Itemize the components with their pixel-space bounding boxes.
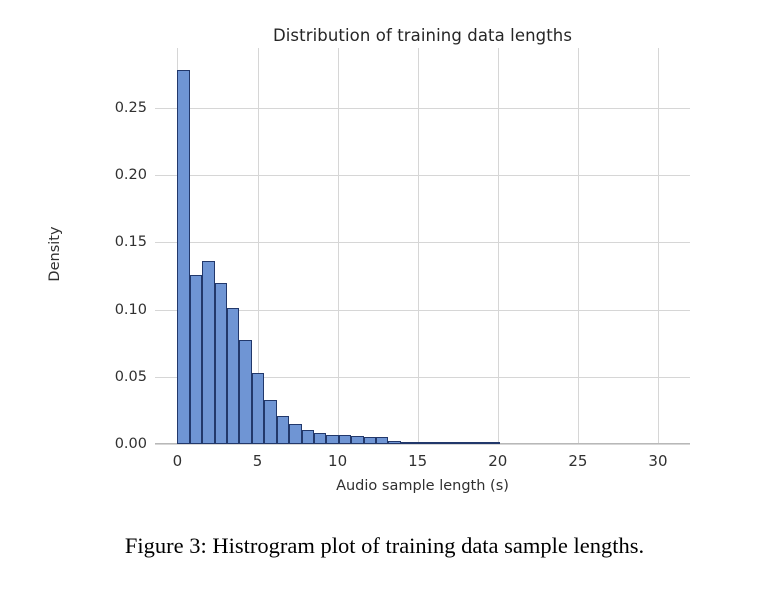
y-axis-label: Density (47, 194, 63, 314)
x-axis-tick-labels: 051015202530 (0, 0, 769, 510)
histogram-chart: Distribution of training data lengths 0.… (0, 0, 769, 510)
x-tick-label-1: 5 (238, 452, 278, 470)
x-tick-label-5: 25 (558, 452, 598, 470)
x-tick-label-2: 10 (318, 452, 358, 470)
x-tick-label-3: 15 (398, 452, 438, 470)
x-tick-label-6: 30 (638, 452, 678, 470)
x-tick-label-0: 0 (157, 452, 197, 470)
figure-caption: Figure 3: Histrogram plot of training da… (0, 533, 769, 559)
figure-container: Distribution of training data lengths 0.… (0, 0, 769, 599)
x-tick-label-4: 20 (478, 452, 518, 470)
x-axis-label: Audio sample length (s) (155, 478, 690, 494)
